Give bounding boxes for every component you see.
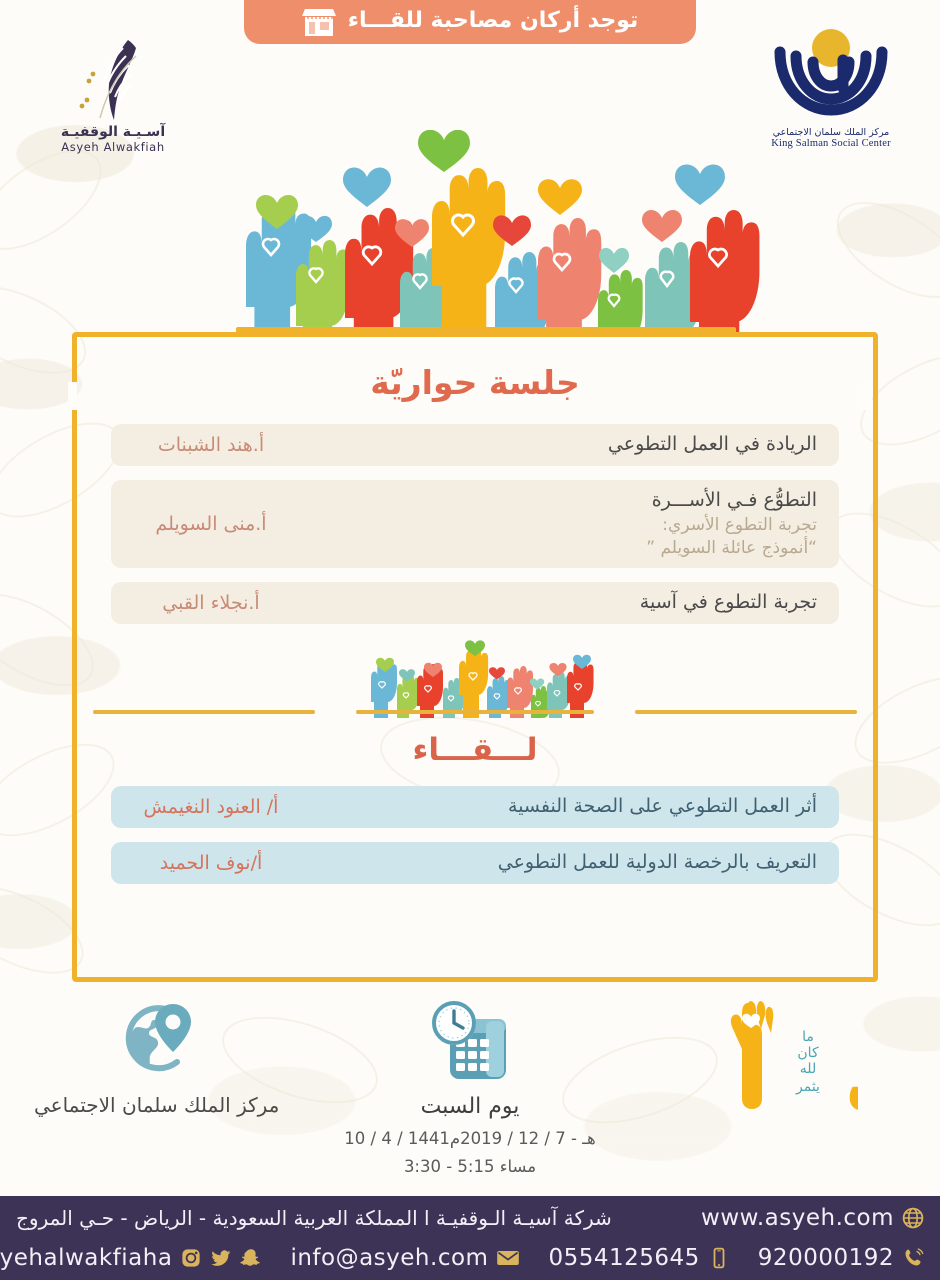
footer-mobile-text: 0554125645 (548, 1245, 699, 1271)
envelope-icon (496, 1248, 520, 1268)
divider-line-left (93, 710, 315, 714)
session-row-topic: التطوُّع فـي الأســـرة تجربة التطوع الأس… (311, 480, 839, 568)
footer-website[interactable]: www.asyeh.com (701, 1205, 924, 1231)
feather-logo-icon (76, 38, 150, 122)
footer-website-text: www.asyeh.com (701, 1205, 894, 1231)
frame-notch-right (863, 382, 872, 410)
phone-icon (902, 1247, 924, 1269)
mobile-icon (708, 1247, 730, 1269)
footer-bar: www.asyeh.com شركة آسيـة الـوقفيـة ا الم… (0, 1196, 940, 1280)
divider-line-right (635, 710, 857, 714)
ghars-logo-icon: غرس ما كان لله يثمر (708, 995, 858, 1113)
brand-ghars: غرس ما كان لله يثمر (627, 995, 940, 1117)
session-row-speaker: أ.نجلاء القبي (111, 582, 311, 624)
globe-location-pin-icon-wrap (0, 995, 313, 1087)
footer-social-handle: Asyehalwakfiaha (0, 1245, 172, 1271)
footer-mobile[interactable]: 0554125645 (548, 1245, 729, 1271)
king-salman-logo-name-ar: مركز الملك سلمان الاجتماعي (736, 127, 926, 138)
session-row-topic: الريادة في العمل التطوعي (311, 424, 839, 466)
meeting-row-topic: أثر العمل التطوعي على الصحة النفسية (311, 786, 839, 828)
footer-email[interactable]: info@asyeh.com (290, 1245, 520, 1271)
king-salman-logo-name-en: King Salman Social Center (736, 138, 926, 149)
main-content-frame: جلسة حواريّة الريادة في العمل التطوعي أ.… (72, 332, 878, 982)
event-day: يوم السبت (313, 1091, 626, 1123)
table-row[interactable]: التطوُّع فـي الأســـرة تجربة التطوع الأس… (111, 480, 839, 568)
frame-notch-left (68, 382, 77, 410)
asyeh-logo: آسـيـة الوقفيـة Asyeh Alwakfiah (18, 38, 208, 154)
table-row[interactable]: تجربة التطوع في آسية أ.نجلاء القبي (111, 582, 839, 624)
footer-row-1: www.asyeh.com شركة آسيـة الـوقفيـة ا الم… (16, 1199, 924, 1237)
svg-text:لله: لله (800, 1061, 816, 1077)
svg-text:غرس: غرس (846, 1043, 858, 1112)
footer-phone[interactable]: 920000192 (758, 1245, 924, 1271)
asyeh-logo-name-en: Asyeh Alwakfiah (18, 140, 208, 154)
top-banner: توجد أركان مصاحبة للقـــاء (244, 0, 696, 44)
globe-location-pin-icon (111, 998, 203, 1084)
event-info-strip: غرس ما كان لله يثمر (0, 995, 940, 1195)
meeting-rows: أثر العمل التطوعي على الصحة النفسية أ/ ا… (77, 786, 873, 884)
top-banner-label: توجد أركان مصاحبة للقـــاء (348, 10, 639, 35)
footer-address-text: شركة آسيـة الـوقفيـة ا المملكة العربية ا… (16, 1206, 612, 1230)
topic-line-1: أثر العمل التطوعي على الصحة النفسية (321, 794, 817, 820)
meeting-row-topic: التعريف بالرخصة الدولية للعمل التطوعي (311, 842, 839, 884)
king-salman-social-center-logo-icon (772, 26, 890, 122)
king-salman-logo: مركز الملك سلمان الاجتماعي King Salman S… (736, 26, 926, 149)
meeting-row-speaker: أ/ العنود النغيمش (111, 786, 311, 828)
snapchat-icon[interactable] (240, 1247, 262, 1269)
footer-address: شركة آسيـة الـوقفيـة ا المملكة العربية ا… (16, 1206, 612, 1230)
table-row[interactable]: التعريف بالرخصة الدولية للعمل التطوعي أ/… (111, 842, 839, 884)
globe-icon (902, 1207, 924, 1229)
mini-raised-hands-illustration (355, 638, 595, 720)
session-title: جلسة حواريّة (77, 363, 873, 402)
event-location: مركز الملك سلمان الاجتماعي (0, 995, 313, 1120)
raised-hands-illustration (0, 130, 940, 335)
asyeh-logo-name-ar: آسـيـة الوقفيـة (18, 124, 208, 140)
section-divider (77, 638, 873, 738)
session-row-speaker: أ.هند الشبنات (111, 424, 311, 466)
table-row[interactable]: الريادة في العمل التطوعي أ.هند الشبنات (111, 424, 839, 466)
topic-line-1: الريادة في العمل التطوعي (321, 432, 817, 458)
session-row-speaker: أ.منى السويلم (111, 480, 311, 568)
event-poster: توجد أركان مصاحبة للقـــاء آسـيـة الوقفي… (0, 0, 940, 1280)
clock-calendar-icon (424, 997, 516, 1085)
event-datetime: يوم السبت 10 / 4 / 1441هـ - 7 / 12 / 201… (313, 995, 626, 1179)
meeting-row-speaker: أ/نوف الحميد (111, 842, 311, 884)
table-row[interactable]: أثر العمل التطوعي على الصحة النفسية أ/ ا… (111, 786, 839, 828)
clock-calendar-icon-wrap (313, 995, 626, 1087)
instagram-icon[interactable] (180, 1247, 202, 1269)
divider-line-center (356, 710, 594, 714)
footer-email-text: info@asyeh.com (290, 1245, 488, 1271)
footer-row-2: 920000192 0554125645 info@asyeh.com (16, 1239, 924, 1277)
svg-text:يثمر: يثمر (795, 1079, 820, 1095)
topic-line-1: التطوُّع فـي الأســـرة (321, 488, 817, 514)
event-date: 10 / 4 / 1441هـ - 7 / 12 / 2019م (313, 1127, 626, 1151)
svg-text:ما: ما (802, 1029, 814, 1045)
event-location-label: مركز الملك سلمان الاجتماعي (0, 1091, 313, 1120)
twitter-icon[interactable] (210, 1247, 232, 1269)
session-rows: الريادة في العمل التطوعي أ.هند الشبنات ا… (77, 424, 873, 624)
topic-line-2: تجربة التطوع الأسري: “أنموذج عائلة السوي… (321, 514, 817, 560)
shop-icon (302, 7, 336, 37)
topic-line-1: التعريف بالرخصة الدولية للعمل التطوعي (321, 850, 817, 876)
event-time: 3:30 - 5:15 مساء (313, 1155, 626, 1179)
topic-line-1: تجربة التطوع في آسية (321, 590, 817, 616)
session-row-topic: تجربة التطوع في آسية (311, 582, 839, 624)
svg-text:كان: كان (798, 1045, 820, 1061)
footer-phone-text: 920000192 (758, 1245, 894, 1271)
footer-social[interactable]: Asyehalwakfiaha (0, 1245, 262, 1271)
